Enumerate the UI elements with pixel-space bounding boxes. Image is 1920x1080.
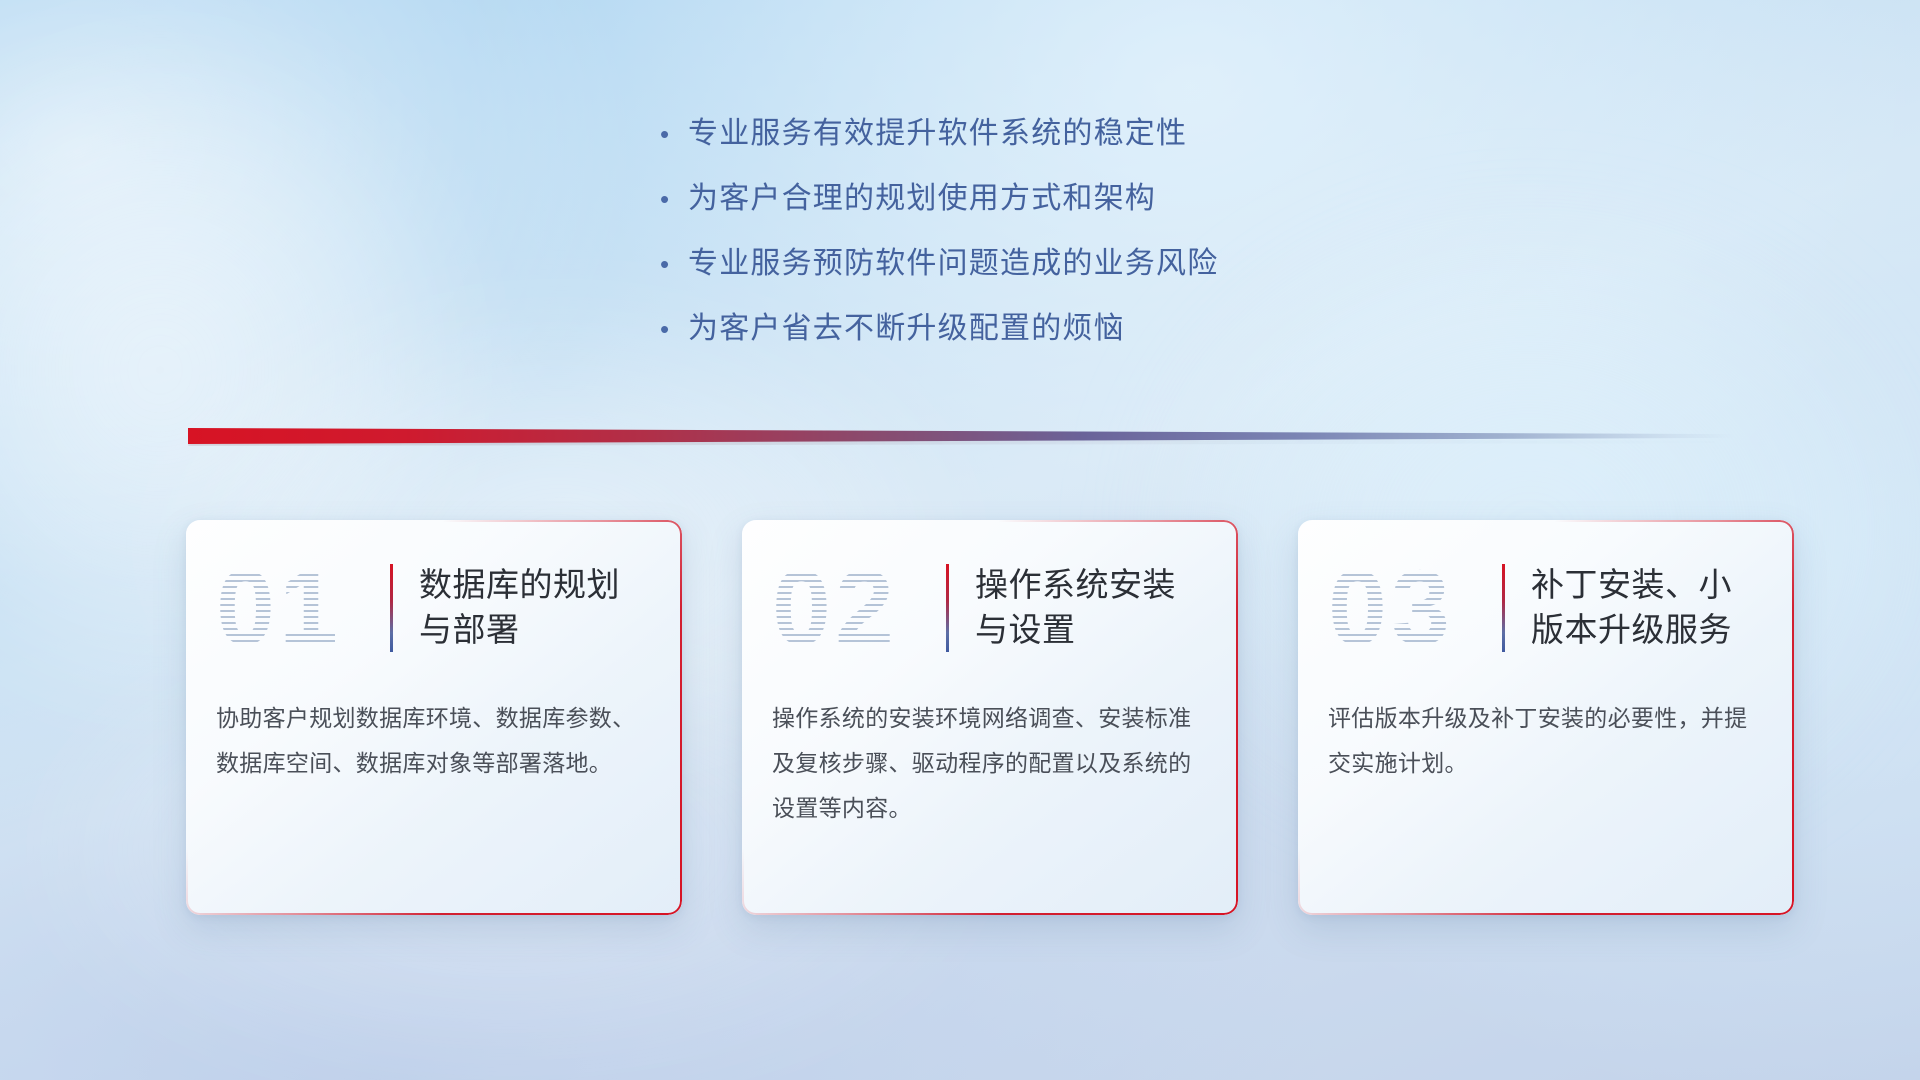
service-card-01[interactable]: 01 数据库的规划与部署 协助客户规划数据库环境、数据库参数、数据库空间、数据库… <box>186 520 682 915</box>
card-title-rule <box>390 564 393 652</box>
card-header: 01 数据库的规划与部署 <box>186 520 682 696</box>
benefits-bullet-list: • 专业服务有效提升软件系统的稳定性 • 为客户合理的规划使用方式和架构 • 专… <box>660 108 1480 368</box>
card-header: 02 操作系统安装与设置 <box>742 520 1238 696</box>
card-header: 03 补丁安装、小版本升级服务 <box>1298 520 1794 696</box>
list-item: • 为客户省去不断升级配置的烦恼 <box>660 303 1480 368</box>
bullet-dot-icon: • <box>660 186 688 212</box>
card-description: 评估版本升级及补丁安装的必要性，并提交实施计划。 <box>1298 696 1794 786</box>
bullet-text: 为客户合理的规划使用方式和架构 <box>688 173 1156 217</box>
bullet-dot-icon: • <box>660 251 688 277</box>
card-title-rule <box>1502 564 1505 652</box>
section-divider <box>188 428 1733 444</box>
list-item: • 专业服务预防软件问题造成的业务风险 <box>660 238 1480 303</box>
service-card-03[interactable]: 03 补丁安装、小版本升级服务 评估版本升级及补丁安装的必要性，并提交实施计划。 <box>1298 520 1794 915</box>
service-card-group: 01 数据库的规划与部署 协助客户规划数据库环境、数据库参数、数据库空间、数据库… <box>186 520 1794 915</box>
bullet-dot-icon: • <box>660 316 688 342</box>
list-item: • 为客户合理的规划使用方式和架构 <box>660 173 1480 238</box>
card-description: 操作系统的安装环境网络调查、安装标准及复核步骤、驱动程序的配置以及系统的设置等内… <box>742 696 1238 831</box>
bullet-dot-icon: • <box>660 121 688 147</box>
list-item: • 专业服务有效提升软件系统的稳定性 <box>660 108 1480 173</box>
card-title: 补丁安装、小版本升级服务 <box>1531 563 1762 652</box>
bullet-text: 专业服务有效提升软件系统的稳定性 <box>688 108 1187 152</box>
card-title: 操作系统安装与设置 <box>975 563 1206 652</box>
card-title-rule <box>946 564 949 652</box>
card-number-03: 03 <box>1328 550 1498 666</box>
card-title: 数据库的规划与部署 <box>419 563 650 652</box>
bullet-text: 专业服务预防软件问题造成的业务风险 <box>688 238 1218 282</box>
card-number-02: 02 <box>772 550 942 666</box>
card-description: 协助客户规划数据库环境、数据库参数、数据库空间、数据库对象等部署落地。 <box>186 696 682 786</box>
slide-root: • 专业服务有效提升软件系统的稳定性 • 为客户合理的规划使用方式和架构 • 专… <box>0 0 1920 1080</box>
card-number-01: 01 <box>216 550 386 666</box>
service-card-02[interactable]: 02 操作系统安装与设置 操作系统的安装环境网络调查、安装标准及复核步骤、驱动程… <box>742 520 1238 915</box>
bullet-text: 为客户省去不断升级配置的烦恼 <box>688 303 1125 347</box>
